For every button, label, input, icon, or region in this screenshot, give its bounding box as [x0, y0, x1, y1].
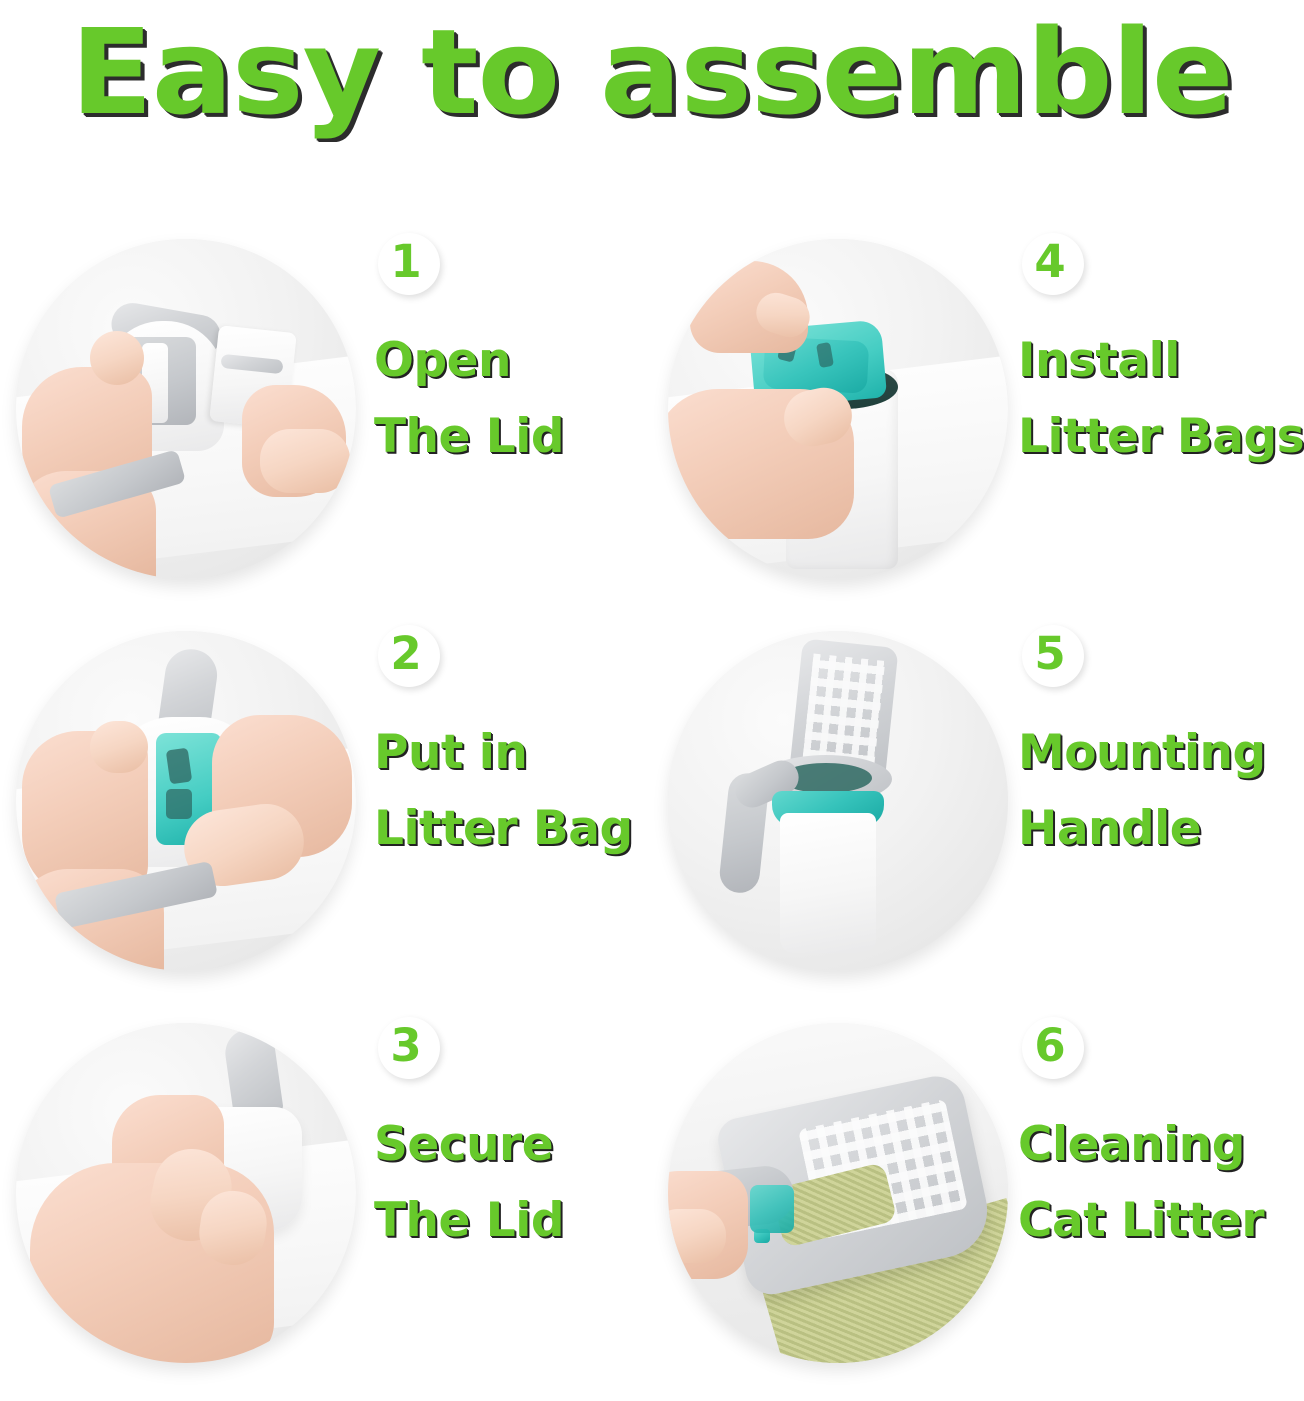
- step-label-3: Secure The Lid: [374, 1107, 652, 1259]
- step-card-6: 6 Cleaning Cat Litter: [652, 1009, 1304, 1401]
- step-label-line1-4: Install: [1018, 323, 1304, 399]
- step-label-line1-1: Open: [374, 323, 652, 399]
- step-card-3: 3 Secure The Lid: [0, 1009, 652, 1401]
- step-text-6: 6 Cleaning Cat Litter: [1008, 1009, 1304, 1259]
- step-label-line1-6: Cleaning: [1018, 1107, 1304, 1183]
- step-number-4: 4: [1034, 239, 1065, 284]
- step-label-line1-5: Mounting: [1018, 715, 1304, 791]
- step-label-line1-2: Put in: [374, 715, 652, 791]
- step-photo-secure-lid: [16, 1023, 356, 1363]
- step-label-line1-3: Secure: [374, 1107, 652, 1183]
- step-card-1: 1 Open The Lid: [0, 225, 652, 617]
- step-number-3: 3: [390, 1023, 421, 1068]
- step-label-5: Mounting Handle: [1018, 715, 1304, 867]
- step-photo-mounting-handle: [668, 631, 1008, 971]
- step-number-1: 1: [390, 239, 421, 284]
- step-card-5: 5 Mounting Handle: [652, 617, 1304, 1009]
- step-label-line2-6: Cat Litter: [1018, 1183, 1304, 1259]
- step-label-line2-4: Litter Bags: [1018, 399, 1304, 475]
- step-label-1: Open The Lid: [374, 323, 652, 475]
- step-number-2: 2: [390, 631, 421, 676]
- step-text-3: 3 Secure The Lid: [356, 1009, 652, 1259]
- step-card-2: 2 Put in Litter Bag: [0, 617, 652, 1009]
- step-photo-cleaning-litter: [668, 1023, 1008, 1363]
- step-label-line2-1: The Lid: [374, 399, 652, 475]
- step-photo-open-lid: [16, 239, 356, 579]
- step-photo-install-bag: [668, 239, 1008, 579]
- step-text-5: 5 Mounting Handle: [1008, 617, 1304, 867]
- step-number-6: 6: [1034, 1023, 1065, 1068]
- step-label-4: Install Litter Bags: [1018, 323, 1304, 475]
- step-label-line2-5: Handle: [1018, 791, 1304, 867]
- step-number-badge-1: 1: [378, 233, 440, 295]
- page-title: Easy to assemble: [71, 13, 1233, 131]
- step-label-line2-2: Litter Bag: [374, 791, 652, 867]
- step-label-6: Cleaning Cat Litter: [1018, 1107, 1304, 1259]
- steps-grid: 1 Open The Lid: [0, 225, 1304, 1401]
- step-number-badge-3: 3: [378, 1017, 440, 1079]
- step-number-5: 5: [1034, 631, 1065, 676]
- step-photo-put-in-bag: [16, 631, 356, 971]
- step-text-1: 1 Open The Lid: [356, 225, 652, 475]
- step-text-2: 2 Put in Litter Bag: [356, 617, 652, 867]
- step-label-2: Put in Litter Bag: [374, 715, 652, 867]
- step-number-badge-5: 5: [1022, 625, 1084, 687]
- step-label-line2-3: The Lid: [374, 1183, 652, 1259]
- step-text-4: 4 Install Litter Bags: [1008, 225, 1304, 475]
- step-number-badge-4: 4: [1022, 233, 1084, 295]
- step-card-4: 4 Install Litter Bags: [652, 225, 1304, 617]
- step-number-badge-6: 6: [1022, 1017, 1084, 1079]
- step-number-badge-2: 2: [378, 625, 440, 687]
- page-title-container: Easy to assemble: [0, 2, 1304, 142]
